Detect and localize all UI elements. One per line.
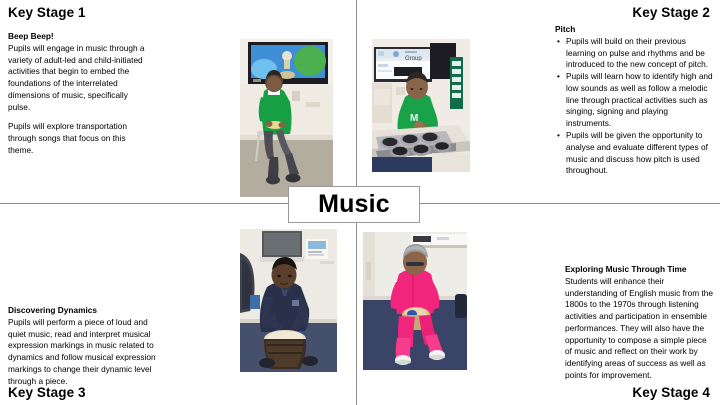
key-stage-2-heading: Key Stage 2 <box>632 5 710 20</box>
key-stage-4-text-block: Exploring Music Through Time Students wi… <box>565 264 715 382</box>
key-stage-1-topic-title: Beep Beep! <box>8 31 148 43</box>
key-stage-3-paragraph-1: Pupils will perform a piece of loud and … <box>8 317 160 388</box>
photo-pupil-djembe-drum <box>240 229 337 372</box>
center-title-box: Music <box>288 186 420 223</box>
vertical-divider-bottom <box>356 222 357 405</box>
key-stage-1-paragraph-1: Pupils will engage in music through a va… <box>8 43 148 114</box>
page-title: Music <box>318 192 390 217</box>
list-item: Pupils will learn how to identify high a… <box>566 71 715 130</box>
key-stage-4-heading: Key Stage 4 <box>632 385 710 400</box>
key-stage-2-topic-title: Pitch <box>555 24 715 36</box>
list-item: Pupils will be given the opportunity to … <box>566 130 715 177</box>
photo-pupil-green-jumper-whiteboard <box>240 39 333 197</box>
list-item: Pupils will build on their previous lear… <box>566 36 715 71</box>
photo-pupil-pink-tracksuit-drum <box>363 232 467 370</box>
key-stage-3-topic-title: Discovering Dynamics <box>8 305 160 317</box>
vertical-divider-top <box>356 0 357 186</box>
key-stage-1-text-block: Beep Beep! Pupils will engage in music t… <box>8 31 148 157</box>
key-stage-4-paragraph-1: Students will enhance their understandin… <box>565 276 715 382</box>
key-stage-3-text-block: Discovering Dynamics Pupils will perform… <box>8 305 160 387</box>
photo-pupil-hand-drums-table: Group M <box>372 39 470 172</box>
key-stage-2-text-block: Pitch Pupils will build on their previou… <box>555 24 715 177</box>
key-stage-1-heading: Key Stage 1 <box>8 5 86 20</box>
key-stage-4-topic-title: Exploring Music Through Time <box>565 264 715 276</box>
music-curriculum-overview-page: Key Stage 1 Key Stage 2 Key Stage 3 Key … <box>0 0 720 405</box>
key-stage-2-bullet-list: Pupils will build on their previous lear… <box>555 36 715 177</box>
key-stage-1-paragraph-2: Pupils will explore transportation throu… <box>8 121 148 156</box>
